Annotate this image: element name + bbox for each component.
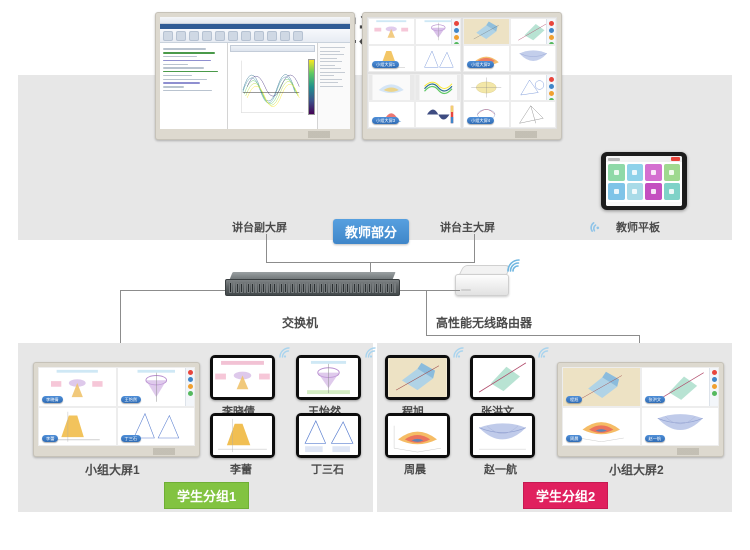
tablet-record-button[interactable] xyxy=(671,157,680,161)
student-work-cell: 小组大屏3 xyxy=(368,101,415,128)
group-mirror-tile[interactable]: 小组大屏3 xyxy=(367,73,462,129)
connector-line xyxy=(266,234,267,262)
student-work-cell: 张洪文 xyxy=(641,367,720,407)
student-work-cell xyxy=(510,74,557,101)
connector-line xyxy=(474,234,475,262)
group-mirror-tile[interactable]: 小组大屏2 xyxy=(462,17,557,73)
tablet-app-tile[interactable] xyxy=(645,183,662,200)
student-tablet-screen xyxy=(388,358,447,397)
student-name-pill: 程旭 xyxy=(566,396,582,403)
student-work-cell: 程旭 xyxy=(562,367,641,407)
surface-plot xyxy=(237,55,309,120)
student-tablet-丁三石[interactable] xyxy=(296,413,361,458)
student-tablet-screen xyxy=(299,416,358,455)
matlab-body xyxy=(160,43,350,129)
podium-secondary-display-content xyxy=(160,17,350,129)
display-brand-mark xyxy=(308,131,348,138)
router-led xyxy=(461,289,471,291)
switch-label: 交换机 xyxy=(282,314,318,331)
student-group-1-badge: 学生分组1 xyxy=(164,482,249,509)
group-2-large-display-label: 小组大屏2 xyxy=(609,461,664,478)
podium-main-display-content: 小组大屏1 xyxy=(367,17,557,129)
student-tablet-赵一航[interactable] xyxy=(470,413,535,458)
student-name-pill: 李晓倩 xyxy=(42,396,63,403)
display-brand-mark xyxy=(515,131,555,138)
group-screen-pill: 小组大屏1 xyxy=(372,61,399,68)
connector-line xyxy=(426,290,427,335)
toolbar-icon xyxy=(280,31,290,41)
student-work-cell xyxy=(415,45,462,72)
student-tablet-screen xyxy=(299,358,358,397)
student-name-pill: 李蕾 xyxy=(42,435,58,442)
student-work-cell: 李蕾 xyxy=(38,407,117,447)
toolbar-icon xyxy=(293,31,303,41)
tablet-footer xyxy=(606,202,682,206)
switch-front-face xyxy=(225,279,400,296)
tablet-app-tile[interactable] xyxy=(664,183,681,200)
student-work-cell: 小组大屏2 xyxy=(463,45,510,72)
student-name-pill: 张洪文 xyxy=(645,396,666,403)
student-tablet-李晓倩[interactable] xyxy=(210,355,275,400)
student-name-label: 周晨 xyxy=(404,461,426,477)
tablet-app-tile[interactable] xyxy=(645,164,662,181)
group-2-large-display-content: 程旭 张洪文 xyxy=(562,367,719,446)
wifi-icon xyxy=(278,346,291,359)
wireless-router-icon[interactable] xyxy=(455,265,511,299)
toolbar-icon xyxy=(189,31,199,41)
group-mirror-tile[interactable]: 小组大屏1 xyxy=(367,17,462,73)
student-tablet-screen xyxy=(388,416,447,455)
podium-main-display-label: 讲台主大屏 xyxy=(440,219,495,235)
teacher-tablet[interactable] xyxy=(601,152,687,210)
group-mirror-grid: 小组大屏1 xyxy=(367,17,557,129)
student-work-cell xyxy=(415,101,462,128)
group-1-large-display[interactable]: 李晓倩 王怡然 xyxy=(33,362,200,457)
wifi-icon xyxy=(364,346,377,359)
student-work-cell xyxy=(463,18,510,45)
student-work-cell xyxy=(368,74,415,101)
app-sidebar xyxy=(451,19,460,44)
student-work-cell xyxy=(415,18,462,45)
student-work-cell xyxy=(368,18,415,45)
group-1-large-display-content: 李晓倩 王怡然 xyxy=(38,367,195,446)
toolbar-icon xyxy=(241,31,251,41)
app-sidebar xyxy=(185,368,194,406)
tablet-app-tile[interactable] xyxy=(627,164,644,181)
app-sidebar xyxy=(709,368,718,406)
tablet-app-grid xyxy=(606,162,682,202)
podium-secondary-display[interactable] xyxy=(155,12,355,140)
student-work-cell: 王怡然 xyxy=(117,367,196,407)
app-sidebar xyxy=(546,75,555,100)
student-tablet-screen xyxy=(213,358,272,397)
teacher-section-badge: 教师部分 xyxy=(333,219,409,244)
matlab-titlebar xyxy=(160,17,350,24)
toolbar-icon xyxy=(267,31,277,41)
group-1-quad-grid: 李晓倩 王怡然 xyxy=(38,367,195,446)
student-tablet-王怡然[interactable] xyxy=(296,355,361,400)
display-brand-mark xyxy=(153,448,193,455)
code-editor-pane[interactable] xyxy=(160,43,228,129)
student-name-pill: 赵一航 xyxy=(645,435,666,442)
student-tablet-screen xyxy=(213,416,272,455)
student-name-label: 赵一航 xyxy=(484,461,517,477)
figure-pane[interactable] xyxy=(228,43,317,129)
figure-titlebar xyxy=(230,45,314,52)
display-brand-mark xyxy=(677,448,717,455)
student-work-cell: 丁三石 xyxy=(117,407,196,447)
student-work-cell xyxy=(510,45,557,72)
student-tablet-周晨[interactable] xyxy=(385,413,450,458)
teacher-tablet-screen xyxy=(606,156,682,206)
student-work-cell xyxy=(415,74,462,101)
connector-line xyxy=(400,290,460,291)
student-work-cell: 小组大屏4 xyxy=(463,101,510,128)
student-tablet-程旭[interactable] xyxy=(385,355,450,400)
wifi-icon xyxy=(506,258,522,273)
student-work-cell xyxy=(510,18,557,45)
student-name-pill: 王怡然 xyxy=(121,396,142,403)
group-screen-pill: 小组大屏3 xyxy=(372,117,399,124)
group-1-large-display-label: 小组大屏1 xyxy=(85,461,140,478)
student-tablet-screen xyxy=(473,358,532,397)
matlab-toolbar xyxy=(160,29,350,43)
tablet-app-tile[interactable] xyxy=(608,164,625,181)
student-name-label: 丁三石 xyxy=(311,461,344,477)
router-label: 高性能无线路由器 xyxy=(436,314,532,331)
group-2-large-display[interactable]: 程旭 张洪文 xyxy=(557,362,724,457)
group-2-quad-grid: 程旭 张洪文 xyxy=(562,367,719,446)
student-tablet-张洪文[interactable] xyxy=(470,355,535,400)
podium-main-display[interactable]: 小组大屏1 xyxy=(362,12,562,140)
group-mirror-tile[interactable]: 小组大屏4 xyxy=(462,73,557,129)
student-work-cell: 周晨 xyxy=(562,407,641,447)
tablet-app-tile[interactable] xyxy=(664,164,681,181)
student-name-pill: 丁三石 xyxy=(121,435,142,442)
tablet-app-title xyxy=(608,158,620,161)
student-work-cell: 李晓倩 xyxy=(38,367,117,407)
student-name-pill: 周晨 xyxy=(566,435,582,442)
group-screen-pill: 小组大屏4 xyxy=(467,117,494,124)
wifi-icon xyxy=(537,346,550,359)
workspace-pane[interactable] xyxy=(318,43,350,129)
connector-line xyxy=(426,335,639,336)
student-work-cell: 小组大屏1 xyxy=(368,45,415,72)
student-tablet-screen xyxy=(473,416,532,455)
toolbar-icon xyxy=(254,31,264,41)
teacher-tablet-label: 教师平板 xyxy=(616,219,660,235)
toolbar-icon xyxy=(176,31,186,41)
toolbar-icon xyxy=(202,31,212,41)
network-switch-icon[interactable] xyxy=(225,272,400,296)
toolbar-icon xyxy=(163,31,173,41)
app-sidebar xyxy=(546,19,555,44)
tablet-app-tile[interactable] xyxy=(627,183,644,200)
student-work-cell xyxy=(510,101,557,128)
group-screen-pill: 小组大屏2 xyxy=(467,61,494,68)
student-group-2-badge: 学生分组2 xyxy=(523,482,608,509)
student-work-cell: 赵一航 xyxy=(641,407,720,447)
connector-line xyxy=(120,290,225,291)
student-name-label: 李蕾 xyxy=(230,461,252,477)
toolbar-icon xyxy=(215,31,225,41)
student-tablet-李蕾[interactable] xyxy=(210,413,275,458)
wifi-icon xyxy=(452,346,465,359)
podium-secondary-display-label: 讲台副大屏 xyxy=(232,219,287,235)
router-front-face xyxy=(455,274,509,296)
tablet-app-tile[interactable] xyxy=(608,183,625,200)
colorbar xyxy=(308,59,315,116)
toolbar-icon xyxy=(228,31,238,41)
student-work-cell xyxy=(463,74,510,101)
